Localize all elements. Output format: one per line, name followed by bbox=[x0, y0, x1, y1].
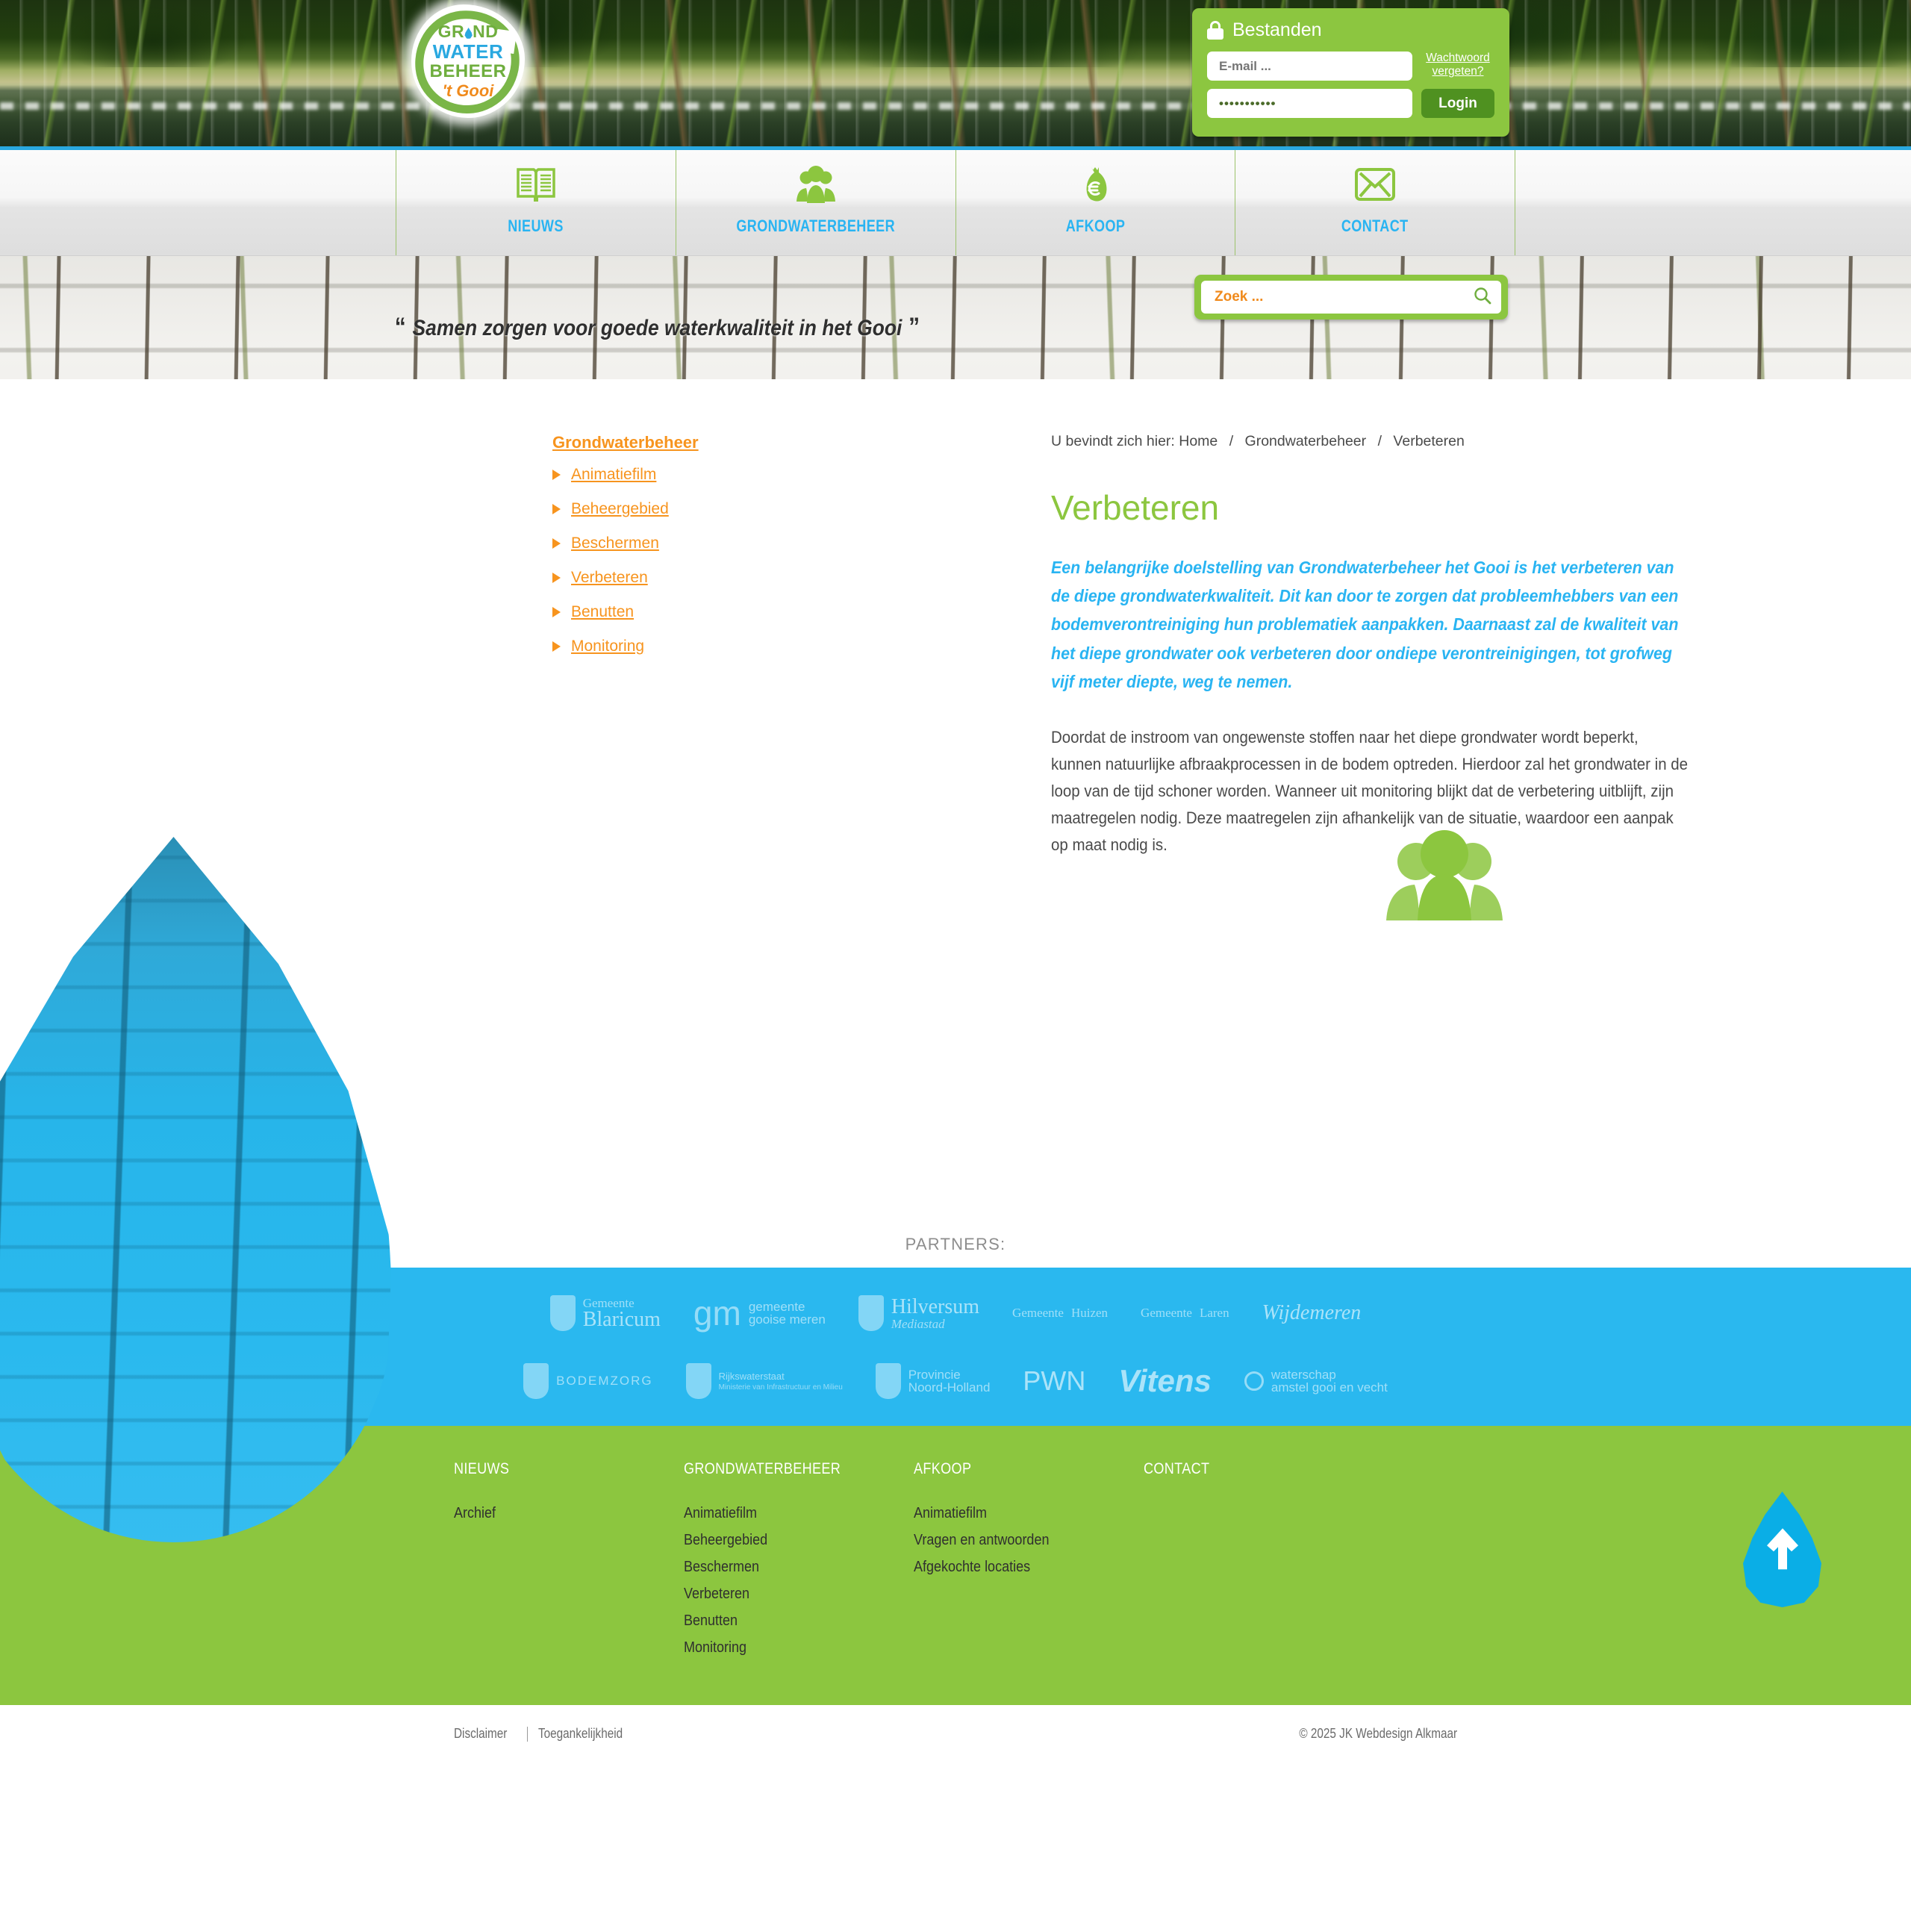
main-column: U bevindt zich hier: Home / Grondwaterbe… bbox=[1051, 433, 1693, 859]
logo-line-gooi: 't Gooi bbox=[443, 83, 494, 99]
triangle-bullet-icon bbox=[552, 504, 561, 514]
partner-logo-rijkswaterstaat[interactable]: Rijkswaterstaat Ministerie van Infrastru… bbox=[686, 1363, 843, 1399]
login-panel-title: Bestanden bbox=[1207, 19, 1494, 41]
book-icon bbox=[516, 163, 556, 206]
partner-logo-huizen[interactable]: Gemeente Huizen bbox=[1012, 1306, 1108, 1321]
bottom-bar-inner: Disclaimer Toegankelijkheid © 2025 JK We… bbox=[314, 1726, 1597, 1742]
partner-name: Noord-Holland bbox=[908, 1381, 991, 1394]
partner-name: Hilversum bbox=[891, 1297, 979, 1318]
footer-heading-grondwaterbeheer: GRONDWATERBEHEER bbox=[684, 1460, 841, 1478]
partner-name: Wijdemeren bbox=[1262, 1301, 1362, 1325]
section-sidebar: Grondwaterbeheer Animatiefilm Beheergebi… bbox=[552, 433, 791, 672]
sidebar-item-label: Monitoring bbox=[571, 638, 644, 655]
bodemzorg-mark-icon bbox=[523, 1363, 549, 1399]
rijkswaterstaat-mark-icon bbox=[686, 1363, 711, 1399]
footer-link-afkoop-animatiefilm[interactable]: Animatiefilm bbox=[914, 1505, 1120, 1522]
triangle-bullet-icon bbox=[552, 538, 561, 549]
coat-of-arms-icon bbox=[858, 1295, 884, 1331]
sidebar-heading[interactable]: Grondwaterbeheer bbox=[552, 433, 791, 452]
page-body-paragraph: Doordat de instroom van ongewenste stoff… bbox=[1051, 724, 1690, 859]
partner-logo-vitens[interactable]: Vitens bbox=[1118, 1363, 1211, 1399]
partner-small-label: Gemeente bbox=[583, 1297, 661, 1309]
partner-name: Huizen bbox=[1071, 1306, 1108, 1321]
nav-item-afkoop[interactable]: AFKOOP bbox=[955, 150, 1235, 255]
partner-small-label: Gemeente bbox=[1141, 1306, 1192, 1321]
sidebar-item-label: Benutten bbox=[571, 603, 634, 621]
breadcrumb-prefix: U bevindt zich hier: bbox=[1051, 433, 1175, 449]
logo-text: GRND WATER BEHEER 't Gooi bbox=[411, 4, 525, 118]
logo-line-water: WATER bbox=[433, 42, 503, 61]
sidebar-item-label: Animatiefilm bbox=[571, 466, 656, 484]
site-tagline: “Samen zorgen voor goede waterkwaliteit … bbox=[388, 313, 926, 342]
footer-link-beheergebied[interactable]: Beheergebied bbox=[684, 1532, 891, 1549]
waterschap-swirl-icon bbox=[1244, 1371, 1264, 1391]
copyright-text: © 2025 JK Webdesign Alkmaar bbox=[1299, 1726, 1457, 1742]
partner-name: Blaricum bbox=[583, 1309, 661, 1330]
sidebar-item-label: Beschermen bbox=[571, 535, 659, 552]
search-input[interactable] bbox=[1215, 289, 1473, 305]
nav-label-nieuws: NIEUWS bbox=[508, 216, 564, 236]
password-field[interactable] bbox=[1207, 89, 1412, 118]
search-box-inner bbox=[1201, 281, 1501, 314]
sidebar-item-animatiefilm[interactable]: Animatiefilm bbox=[552, 466, 791, 484]
nav-item-nieuws[interactable]: NIEUWS bbox=[396, 150, 676, 255]
coat-of-arms-icon bbox=[550, 1295, 576, 1331]
money-bag-euro-icon bbox=[1079, 163, 1112, 206]
partner-logo-wijdemeren[interactable]: Wijdemeren bbox=[1262, 1301, 1362, 1325]
triangle-bullet-icon bbox=[552, 470, 561, 480]
gm-monogram-icon: gm bbox=[693, 1293, 741, 1333]
login-email-row: Wachtwoord vergeten? bbox=[1207, 52, 1494, 81]
main-navigation-items: NIEUWS GRONDWATERBEHEER bbox=[396, 150, 1515, 255]
envelope-icon bbox=[1354, 163, 1396, 206]
scroll-to-top-button[interactable] bbox=[1743, 1492, 1821, 1607]
decorative-water-drop-image bbox=[0, 837, 392, 1542]
quote-close: ” bbox=[902, 313, 926, 341]
partner-logo-laren[interactable]: Gemeente Laren bbox=[1141, 1306, 1229, 1321]
sidebar-item-verbeteren[interactable]: Verbeteren bbox=[552, 569, 791, 587]
partner-logo-blaricum[interactable]: Gemeente Blaricum bbox=[550, 1295, 661, 1331]
footer-link-beschermen[interactable]: Beschermen bbox=[684, 1559, 891, 1576]
partner-sub-label: Mediastad bbox=[891, 1318, 979, 1330]
partner-name: amstel gooi en vecht bbox=[1271, 1381, 1388, 1394]
sidebar-item-beschermen[interactable]: Beschermen bbox=[552, 535, 791, 552]
header-photo-water-line bbox=[0, 102, 1911, 110]
search-box bbox=[1194, 275, 1508, 320]
partner-name: gooise meren bbox=[749, 1313, 826, 1326]
breadcrumb-item-grondwaterbeheer[interactable]: Grondwaterbeheer bbox=[1245, 433, 1367, 449]
forgot-password-link[interactable]: Wachtwoord vergeten? bbox=[1421, 52, 1494, 79]
bottom-bar-links: Disclaimer Toegankelijkheid bbox=[454, 1726, 637, 1742]
sub-banner-photo bbox=[0, 256, 1911, 379]
breadcrumb-separator: / bbox=[1371, 433, 1389, 449]
footer-link-archief[interactable]: Archief bbox=[454, 1505, 661, 1522]
main-navigation: NIEUWS GRONDWATERBEHEER bbox=[0, 150, 1911, 256]
sidebar-item-benutten[interactable]: Benutten bbox=[552, 603, 791, 621]
partner-small-label: Provincie bbox=[908, 1368, 991, 1381]
page-lead-paragraph: Een belangrijke doelstelling van Grondwa… bbox=[1051, 553, 1690, 696]
breadcrumb: U bevindt zich hier: Home / Grondwaterbe… bbox=[1051, 433, 1693, 450]
partner-logo-bodemzorg[interactable]: BODEMZORG bbox=[523, 1363, 652, 1399]
breadcrumb-item-home[interactable]: Home bbox=[1179, 433, 1218, 449]
partner-small-label: Rijkswaterstaat bbox=[719, 1371, 843, 1381]
disclaimer-link[interactable]: Disclaimer bbox=[454, 1726, 507, 1742]
content-area: Grondwaterbeheer Animatiefilm Beheergebi… bbox=[0, 379, 1911, 1223]
footer-column-nieuws: NIEUWS Archief bbox=[454, 1460, 684, 1666]
header-photo bbox=[0, 0, 1911, 146]
footer-link-vragen-en-antwoorden[interactable]: Vragen en antwoorden bbox=[914, 1532, 1120, 1549]
water-drop-icon bbox=[464, 28, 473, 39]
partner-name: Laren bbox=[1200, 1306, 1229, 1321]
people-icon bbox=[795, 163, 837, 206]
triangle-bullet-icon bbox=[552, 573, 561, 583]
footer-heading-afkoop: AFKOOP bbox=[914, 1460, 971, 1478]
partner-logo-provincie-noord-holland[interactable]: Provincie Noord-Holland bbox=[876, 1363, 991, 1399]
tagline-text: Samen zorgen voor goede waterkwaliteit i… bbox=[413, 316, 902, 340]
partner-logo-waterschap-amstel-gooi-vecht[interactable]: waterschap amstel gooi en vecht bbox=[1244, 1368, 1388, 1394]
bottom-bar-divider bbox=[527, 1727, 528, 1742]
footer-column-contact: CONTACT bbox=[1144, 1460, 1368, 1666]
content-inner: Grondwaterbeheer Animatiefilm Beheergebi… bbox=[314, 379, 1597, 424]
footer-columns: NIEUWS Archief GRONDWATERBEHEER Animatie… bbox=[314, 1460, 1597, 1666]
login-panel-title-label: Bestanden bbox=[1232, 19, 1322, 41]
header-banner: GRND WATER BEHEER 't Gooi Bestanden Wach… bbox=[0, 0, 1911, 146]
login-panel: Bestanden Wachtwoord vergeten? Login bbox=[1192, 8, 1509, 137]
provincie-crest-icon bbox=[876, 1363, 901, 1399]
partner-name: Vitens bbox=[1118, 1363, 1211, 1399]
partner-name: BODEMZORG bbox=[556, 1374, 652, 1389]
accessibility-link[interactable]: Toegankelijkheid bbox=[538, 1726, 623, 1742]
footer-heading-nieuws: NIEUWS bbox=[454, 1460, 509, 1478]
footer-heading-contact: CONTACT bbox=[1144, 1460, 1209, 1478]
site-logo[interactable]: GRND WATER BEHEER 't Gooi bbox=[411, 4, 525, 118]
partner-logo-hilversum[interactable]: Hilversum Mediastad bbox=[858, 1295, 979, 1331]
sidebar-item-label: Beheergebied bbox=[571, 500, 669, 518]
logo-grond-part1: GR bbox=[438, 22, 465, 41]
footer-link-benutten[interactable]: Benutten bbox=[684, 1612, 891, 1630]
arrow-up-icon bbox=[1765, 1526, 1800, 1572]
sidebar-item-label: Verbeteren bbox=[571, 569, 648, 587]
sidebar-item-beheergebied[interactable]: Beheergebied bbox=[552, 500, 791, 518]
footer-link-monitoring[interactable]: Monitoring bbox=[684, 1639, 891, 1657]
nav-item-grondwaterbeheer[interactable]: GRONDWATERBEHEER bbox=[676, 150, 955, 255]
partner-name: PWN bbox=[1023, 1365, 1085, 1397]
bottom-bar: Disclaimer Toegankelijkheid © 2025 JK We… bbox=[0, 1705, 1911, 1767]
nav-label-afkoop: AFKOOP bbox=[1066, 216, 1126, 236]
partner-sub-label: Ministerie van Infrastructuur en Milieu bbox=[719, 1384, 843, 1392]
sidebar-item-monitoring[interactable]: Monitoring bbox=[552, 638, 791, 655]
page-title: Verbeteren bbox=[1051, 487, 1693, 528]
footer-link-afgekochte-locaties[interactable]: Afgekochte locaties bbox=[914, 1559, 1120, 1576]
partner-small-label: Gemeente bbox=[1012, 1306, 1064, 1321]
login-button[interactable]: Login bbox=[1421, 89, 1494, 118]
sub-banner: “Samen zorgen voor goede waterkwaliteit … bbox=[0, 256, 1911, 379]
partner-logo-pwn[interactable]: PWN bbox=[1023, 1365, 1085, 1397]
search-icon[interactable] bbox=[1473, 286, 1492, 309]
email-field[interactable] bbox=[1207, 52, 1412, 81]
logo-line-grond: GRND bbox=[438, 23, 499, 40]
footer-column-grondwaterbeheer: GRONDWATERBEHEER Animatiefilm Beheergebi… bbox=[684, 1460, 914, 1666]
breadcrumb-separator: / bbox=[1222, 433, 1241, 449]
logo-grond-part2: ND bbox=[473, 22, 498, 41]
triangle-bullet-icon bbox=[552, 607, 561, 617]
triangle-bullet-icon bbox=[552, 641, 561, 652]
sub-banner-clip bbox=[0, 256, 1911, 379]
quote-open: “ bbox=[388, 313, 413, 341]
logo-line-beheer: BEHEER bbox=[429, 63, 506, 81]
footer-column-afkoop: AFKOOP Animatiefilm Vragen en antwoorden… bbox=[914, 1460, 1144, 1666]
partner-small-label: gemeente bbox=[749, 1300, 826, 1313]
partner-small-label: waterschap bbox=[1271, 1368, 1388, 1381]
partner-logo-gooise-meren[interactable]: gm gemeente gooise meren bbox=[693, 1293, 826, 1333]
login-password-row: Login bbox=[1207, 89, 1494, 118]
footer-link-animatiefilm[interactable]: Animatiefilm bbox=[684, 1505, 891, 1522]
lock-icon bbox=[1207, 21, 1223, 40]
footer-link-verbeteren[interactable]: Verbeteren bbox=[684, 1586, 891, 1603]
nav-label-grondwaterbeheer: GRONDWATERBEHEER bbox=[736, 216, 895, 236]
nav-item-contact[interactable]: CONTACT bbox=[1235, 150, 1515, 255]
nav-label-contact: CONTACT bbox=[1341, 216, 1409, 236]
breadcrumb-item-verbeteren[interactable]: Verbeteren bbox=[1393, 433, 1464, 449]
